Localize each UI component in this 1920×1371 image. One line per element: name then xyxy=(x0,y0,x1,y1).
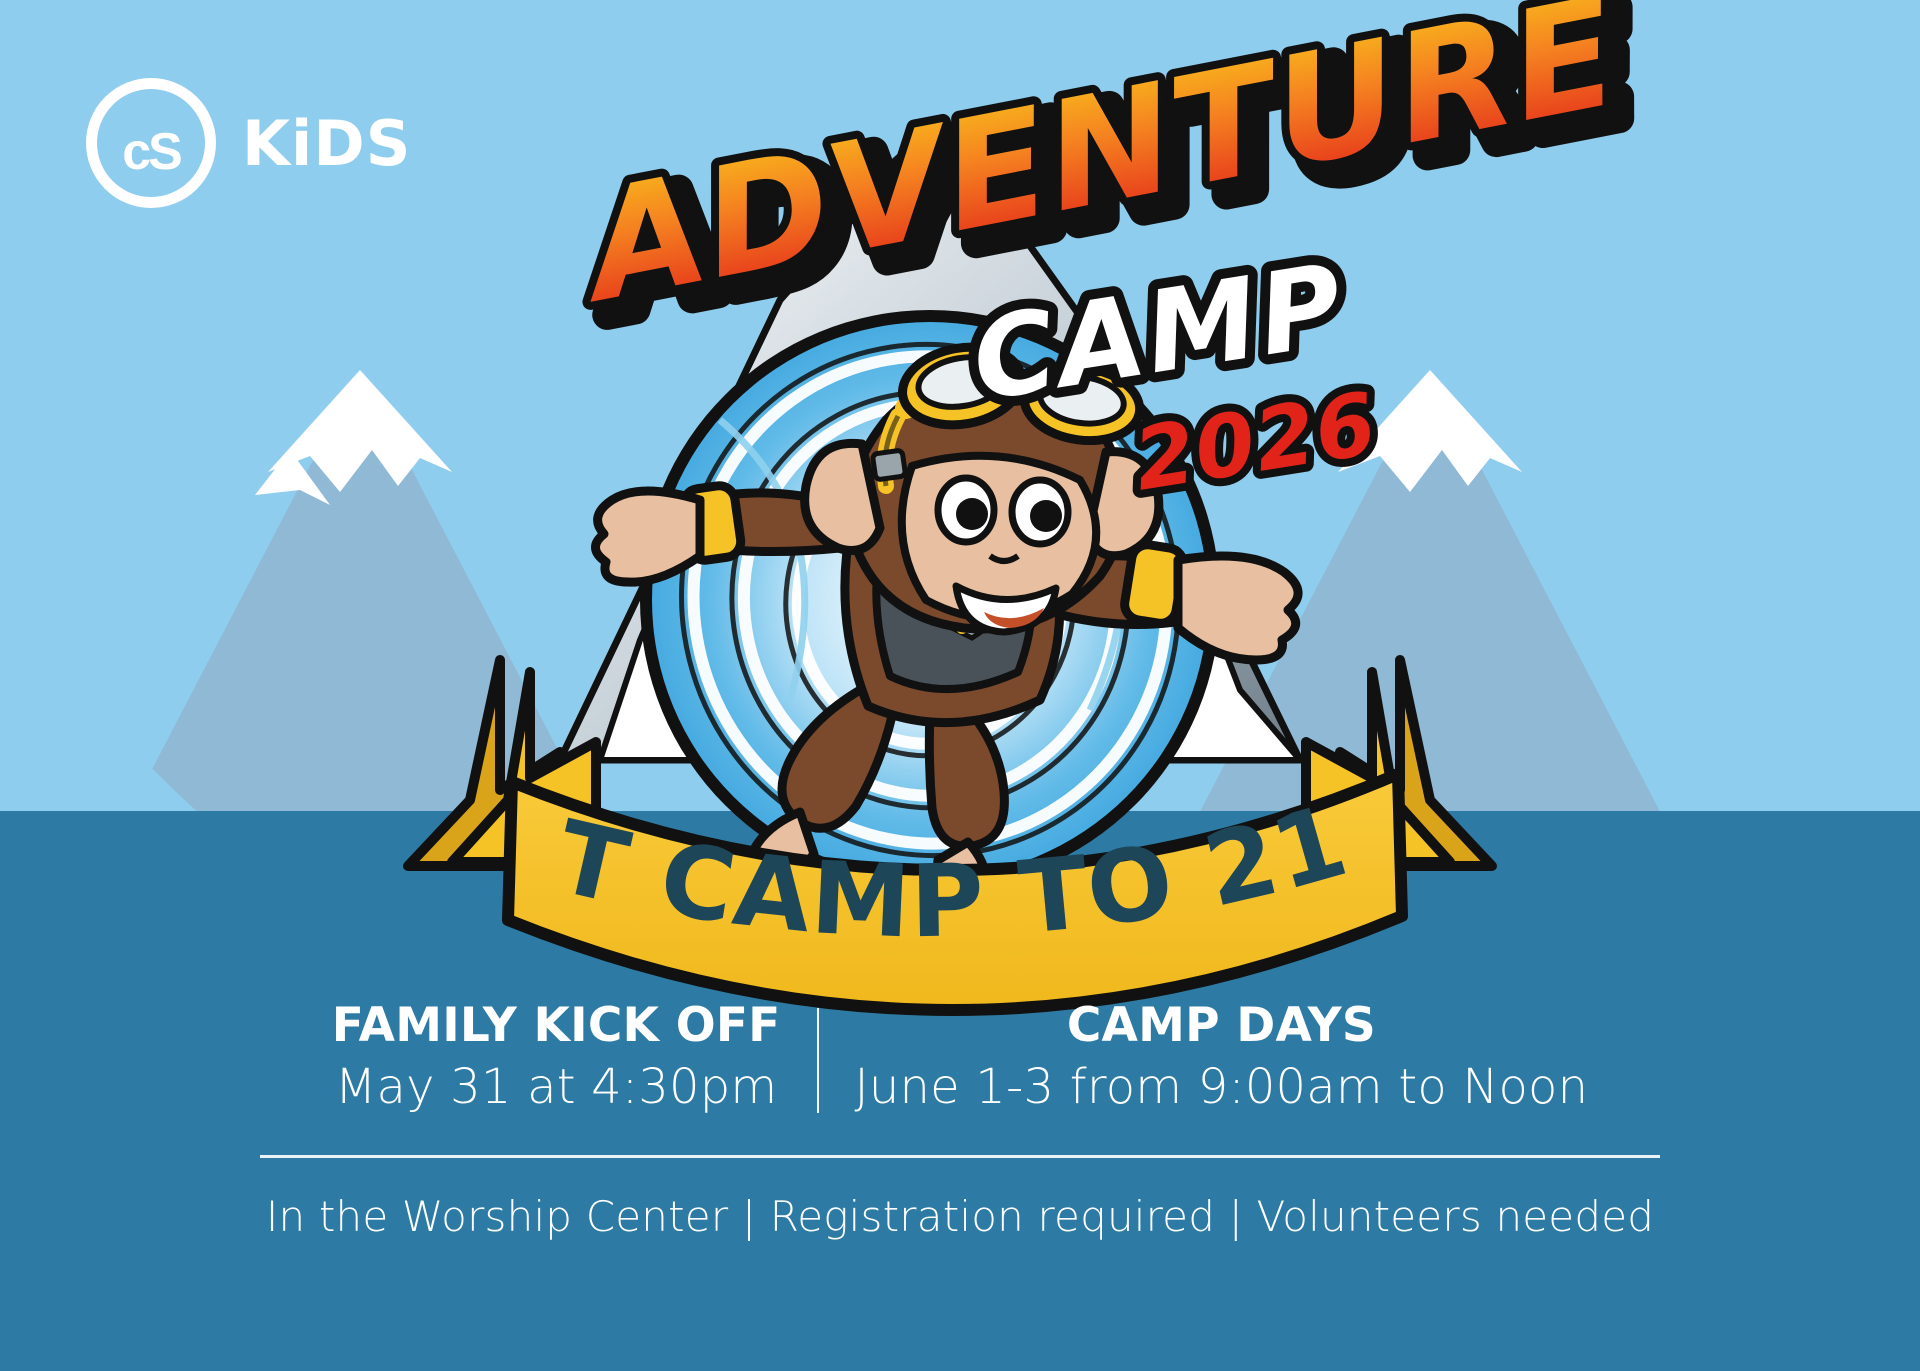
background-mountains xyxy=(0,330,1920,850)
kids-wordmark: KiDS xyxy=(242,107,411,180)
detail-column-camp-days: CAMP DAYS June 1-3 from 9:00am to Noon xyxy=(819,1000,1625,1115)
cs-circle-logo-icon: cS xyxy=(86,78,216,208)
family-kick-off-heading: FAMILY KICK OFF xyxy=(332,1000,781,1053)
cs-kids-logo[interactable]: cS KiDS xyxy=(86,78,411,208)
camp-days-heading: CAMP DAYS xyxy=(855,1000,1589,1053)
cs-logo-mark-text: cS xyxy=(122,126,180,178)
column-divider xyxy=(817,1008,819,1113)
detail-column-family-kick-off: FAMILY KICK OFF May 31 at 4:30pm xyxy=(296,1000,817,1115)
camp-days-value: June 1-3 from 9:00am to Noon xyxy=(855,1059,1589,1116)
details-footnote: In the Worship Center | Registration req… xyxy=(266,1192,1654,1241)
details-divider xyxy=(260,1155,1660,1158)
adventure-camp-poster: cS KiDS xyxy=(0,0,1920,1371)
family-kick-off-value: May 31 at 4:30pm xyxy=(332,1059,781,1116)
detail-columns: FAMILY KICK OFF May 31 at 4:30pm CAMP DA… xyxy=(296,1000,1624,1115)
event-details: FAMILY KICK OFF May 31 at 4:30pm CAMP DA… xyxy=(0,1000,1920,1241)
